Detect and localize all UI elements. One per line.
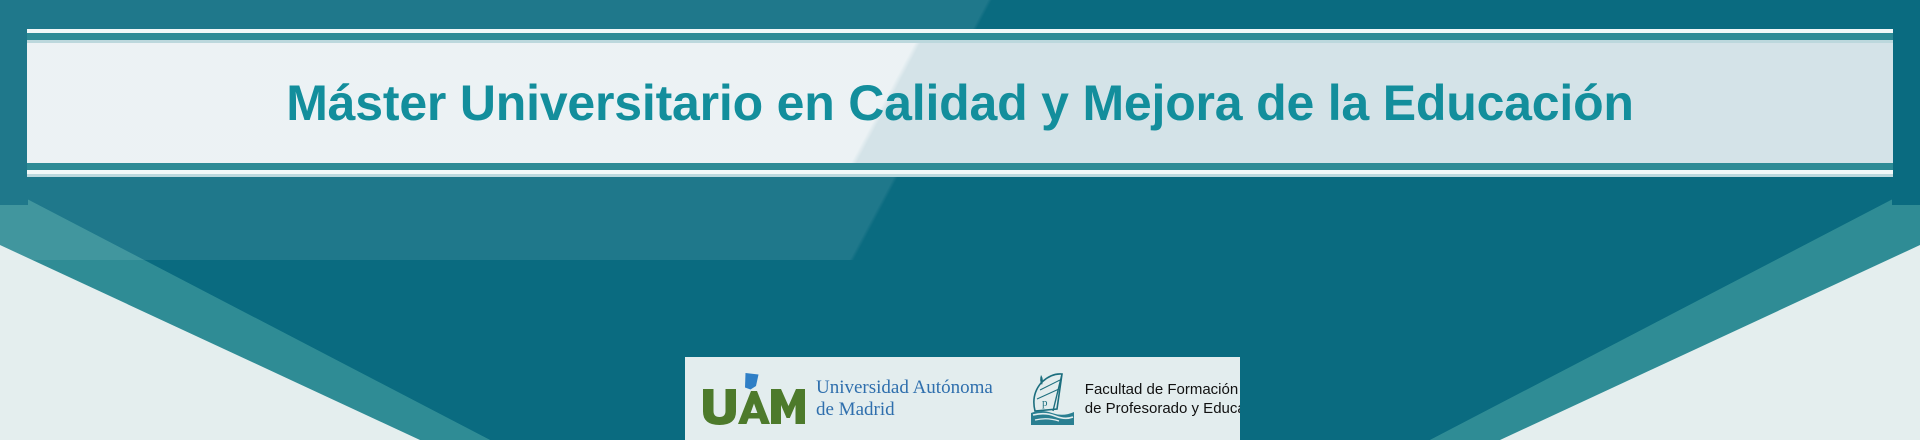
title-plate: Máster Universitario en Calidad y Mejora… <box>27 29 1893 177</box>
uam-wordmark: Universidad Autónoma de Madrid <box>816 377 993 421</box>
uam-name-line-2: de Madrid <box>816 399 993 421</box>
uam-flag-icon <box>701 373 805 425</box>
windsurfer-icon: p <box>1029 371 1076 427</box>
svg-text:p: p <box>1042 397 1048 409</box>
title-rule-bottom-outer <box>27 174 1893 177</box>
uam-logo: Universidad Autónoma de Madrid <box>701 373 993 425</box>
title-rule-bottom-thick <box>27 163 1893 170</box>
title-body: Máster Universitario en Calidad y Mejora… <box>27 43 1893 163</box>
uam-name-line-1: Universidad Autónoma <box>816 377 993 399</box>
faculty-name-line-2: de Profesorado y Educación <box>1085 399 1240 418</box>
slide-canvas: Máster Universitario en Calidad y Mejora… <box>0 0 1920 440</box>
page-title: Máster Universitario en Calidad y Mejora… <box>27 43 1893 163</box>
logo-bar: Universidad Autónoma de Madrid p <box>685 357 1240 440</box>
faculty-name-line-1: Facultad de Formación <box>1085 380 1240 399</box>
title-rule-top-thick <box>27 33 1893 40</box>
faculty-wordmark: Facultad de Formación de Profesorado y E… <box>1085 380 1240 418</box>
faculty-logo: p Facultad de Formación de Profesorado y… <box>1029 371 1240 427</box>
